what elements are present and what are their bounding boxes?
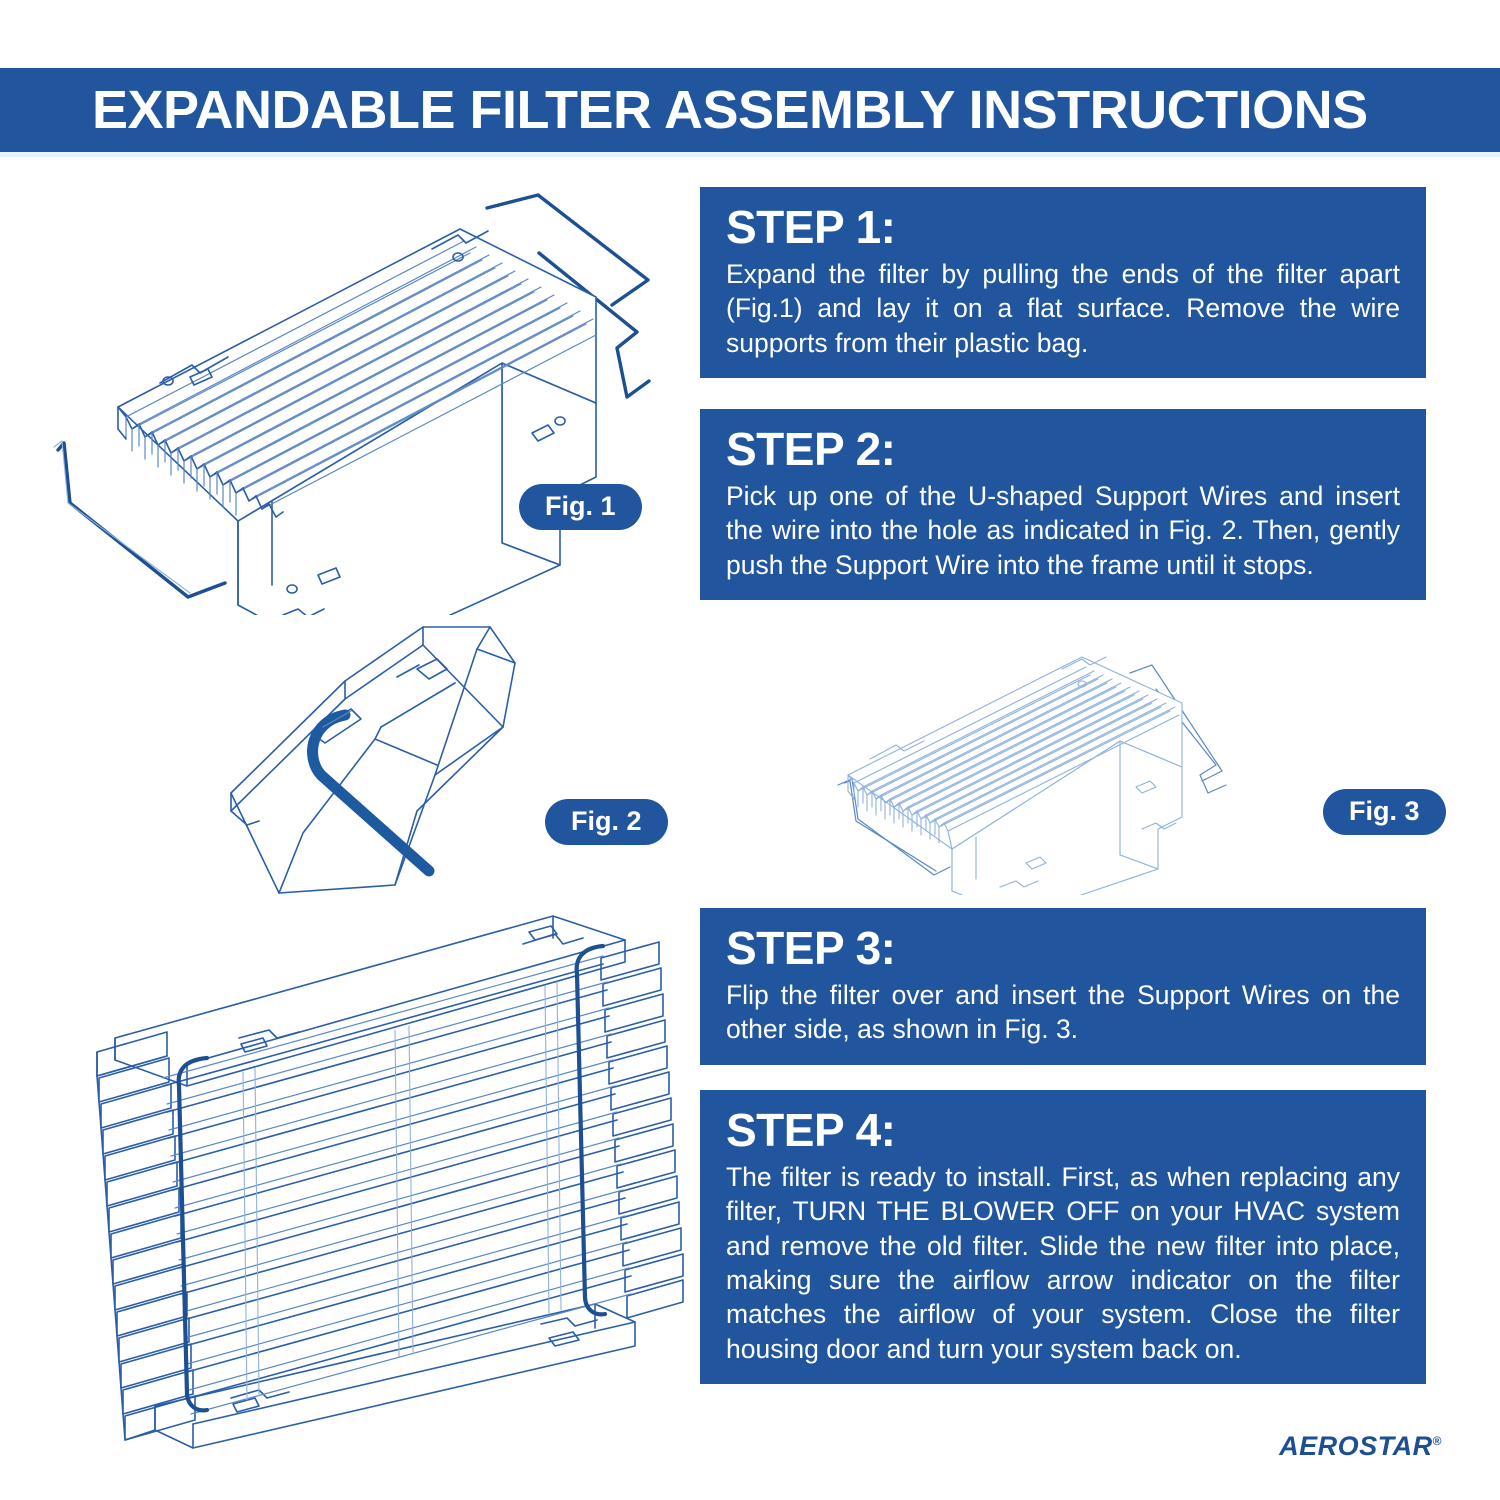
step-2-title: STEP 2: — [726, 425, 1400, 475]
step-4-title: STEP 4: — [726, 1106, 1400, 1156]
fig-1-badge: Fig. 1 — [519, 484, 642, 530]
brand-logo: AEROSTAR® — [1279, 1431, 1442, 1462]
figure-1-expanded-filter — [40, 185, 680, 615]
figure-4-assembled-filter — [55, 900, 685, 1455]
instruction-sheet: EXPANDABLE FILTER ASSEMBLY INSTRUCTIONS — [0, 0, 1500, 1500]
registered-trademark-icon: ® — [1433, 1434, 1442, 1448]
figure-3-flipped-filter — [830, 635, 1440, 895]
step-1-panel: STEP 1: Expand the filter by pulling the… — [700, 187, 1426, 378]
assembled-filter-upright-icon — [55, 900, 685, 1455]
header-banner: EXPANDABLE FILTER ASSEMBLY INSTRUCTIONS — [0, 68, 1500, 152]
fig-3-badge: Fig. 3 — [1323, 789, 1446, 835]
step-3-title: STEP 3: — [726, 924, 1400, 974]
figure-2-wire-insertion — [185, 615, 585, 910]
step-1-body: Expand the filter by pulling the ends of… — [726, 257, 1400, 360]
fig-2-badge: Fig. 2 — [545, 799, 668, 845]
step-2-body: Pick up one of the U-shaped Support Wire… — [726, 479, 1400, 582]
brand-name: AEROSTAR — [1279, 1431, 1433, 1461]
step-2-panel: STEP 2: Pick up one of the U-shaped Supp… — [700, 409, 1426, 600]
step-1-title: STEP 1: — [726, 203, 1400, 253]
step-3-body: Flip the filter over and insert the Supp… — [726, 978, 1400, 1047]
support-wire-insertion-icon — [185, 615, 585, 910]
expanded-pleated-filter-icon — [40, 185, 680, 615]
filter-flipped-with-wires-icon — [830, 635, 1440, 895]
header-underglow — [0, 152, 1500, 157]
step-4-body: The filter is ready to install. First, a… — [726, 1160, 1400, 1367]
step-4-panel: STEP 4: The filter is ready to install. … — [700, 1090, 1426, 1384]
step-3-panel: STEP 3: Flip the filter over and insert … — [700, 908, 1426, 1065]
page-title: EXPANDABLE FILTER ASSEMBLY INSTRUCTIONS — [0, 79, 1368, 141]
